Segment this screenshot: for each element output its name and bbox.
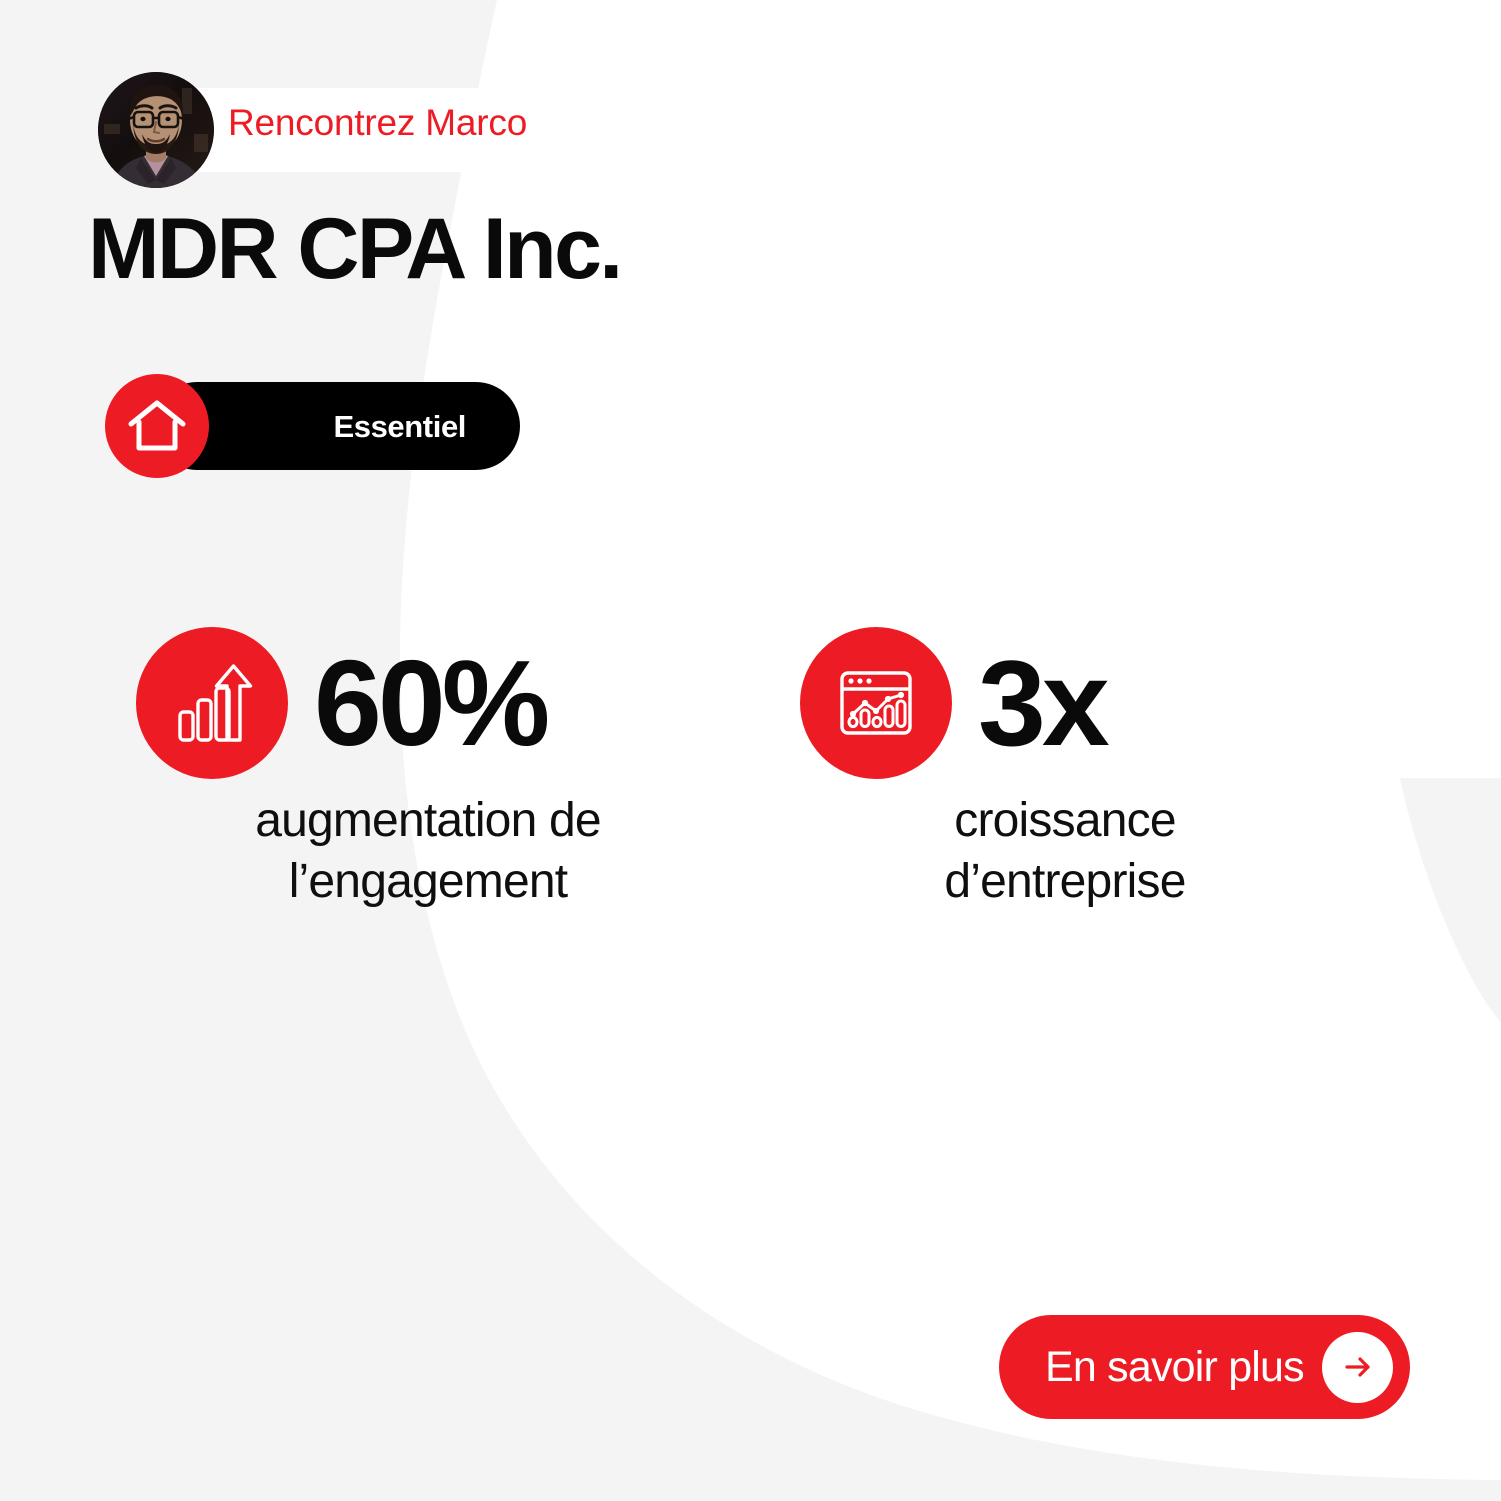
browser-analytics-icon <box>800 627 952 779</box>
home-icon <box>105 374 209 478</box>
learn-more-label: En savoir plus <box>1045 1346 1304 1389</box>
meet-label: Rencontrez Marco <box>228 104 527 141</box>
stat-label-line-1: croissance <box>830 791 1300 852</box>
arrow-right-icon <box>1322 1332 1393 1403</box>
stat-value: 3x <box>978 642 1106 764</box>
stat-header: 3x <box>800 627 1300 779</box>
stat-label-line-1: augmentation de <box>140 791 716 852</box>
stat-value: 60% <box>314 642 546 764</box>
bar-chart-growth-icon <box>136 627 288 779</box>
learn-more-button[interactable]: En savoir plus <box>999 1315 1410 1419</box>
page-title: MDR CPA Inc. <box>88 204 621 294</box>
stat-header: 60% <box>136 627 716 779</box>
promo-card: Rencontrez Marco MDR CPA Inc. Essentiel <box>0 0 1501 1501</box>
avatar <box>98 72 214 188</box>
plan-badge-label: Essentiel <box>333 411 466 442</box>
stat-label-line-2: l’engagement <box>140 852 716 913</box>
stat-card-engagement: 60% augmentation de l’engagement <box>136 627 716 913</box>
stat-card-growth: 3x croissance d’entreprise <box>800 627 1300 913</box>
stat-label: croissance d’entreprise <box>800 791 1300 913</box>
stat-label: augmentation de l’engagement <box>136 791 716 913</box>
stat-label-line-2: d’entreprise <box>830 852 1300 913</box>
